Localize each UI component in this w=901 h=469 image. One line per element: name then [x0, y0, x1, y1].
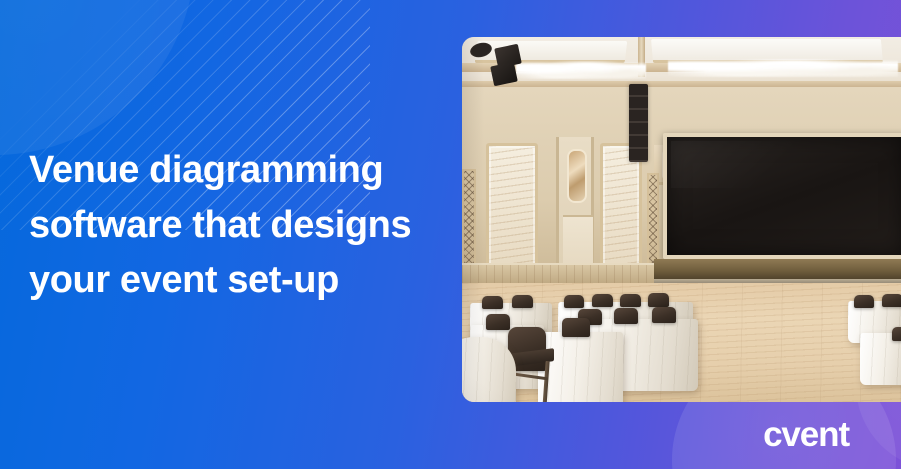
banquet-chair	[564, 295, 584, 308]
banquet-chair	[562, 318, 590, 337]
stage-riser-face	[654, 259, 901, 281]
mirror-panel	[567, 149, 587, 203]
banquet-chair	[614, 308, 638, 324]
ballroom-photo	[462, 37, 901, 402]
banquet-chair	[854, 295, 874, 308]
projection-screen	[663, 133, 901, 259]
cvent-logo: cvent	[763, 417, 849, 452]
promotional-banner: Venue diagramming software that designs …	[0, 0, 901, 469]
line-array-speaker	[629, 84, 648, 162]
page-title: Venue diagramming software that designs …	[29, 143, 449, 308]
banquet-chair	[648, 293, 669, 307]
screen-glare	[671, 141, 813, 188]
banquet-chair	[882, 294, 901, 307]
chandelier-right	[668, 59, 898, 77]
banquet-chair	[512, 295, 533, 308]
linen-table	[538, 332, 623, 402]
chandelier-left	[516, 61, 646, 79]
light-circle-top-left	[0, 0, 195, 155]
banquet-chair	[486, 314, 510, 330]
banquet-chair	[482, 296, 503, 309]
ballroom-photo-scene	[462, 37, 901, 402]
banquet-chair	[652, 307, 676, 323]
banquet-chair	[892, 327, 901, 341]
banquet-chair	[592, 294, 613, 307]
wall-wainscot	[462, 263, 656, 285]
banquet-chair	[620, 294, 641, 307]
